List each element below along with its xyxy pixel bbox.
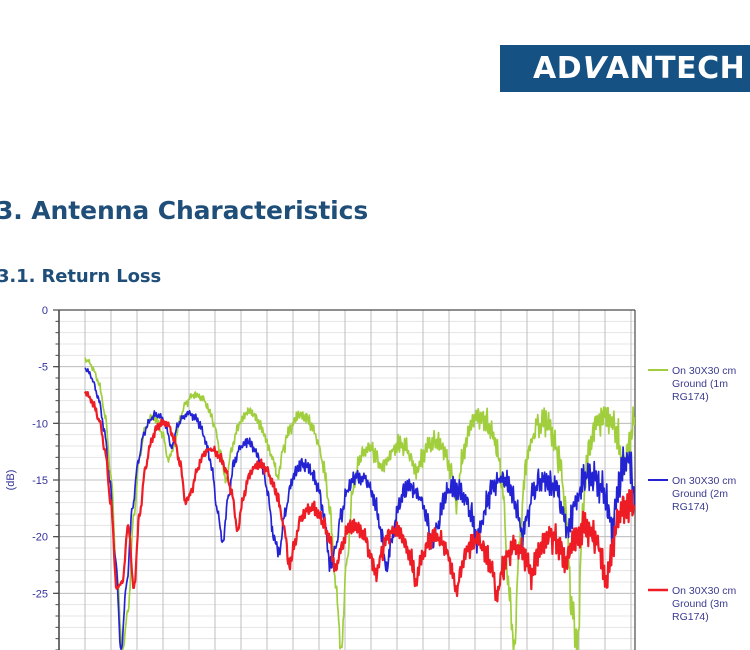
legend-label: RG174)	[672, 501, 709, 513]
wordmark-part-2: ANTECH	[606, 51, 745, 86]
y-axis-tick-label: -5	[38, 362, 48, 374]
chart-y-axis-tick-labels: 0-5-10-15-20-25	[32, 305, 48, 600]
y-axis-tick-label: -20	[32, 532, 48, 544]
advantech-logo-bar: ADVANTECH	[500, 45, 750, 92]
y-axis-tick-label: -10	[32, 418, 48, 430]
legend-label: On 30X30 cm	[672, 365, 736, 377]
legend-label: Ground (3m	[672, 598, 728, 610]
subsection-heading: 3.1. Return Loss	[0, 266, 161, 287]
legend-label: Ground (2m	[672, 488, 728, 500]
return-loss-chart-svg: 0-5-10-15-20-25 (dB) On 30X30 cmGround (…	[0, 300, 750, 650]
y-axis-title: (dB)	[5, 470, 17, 491]
advantech-wordmark: ADVANTECH	[533, 54, 745, 84]
wordmark-part-1: AD	[533, 51, 582, 86]
chart-y-axis-ticks	[53, 310, 59, 650]
legend-label: RG174)	[672, 611, 709, 623]
legend-label: On 30X30 cm	[672, 585, 736, 597]
section-heading: 3. Antenna Characteristics	[0, 196, 368, 225]
y-axis-tick-label: -25	[32, 588, 48, 600]
chart-legend: On 30X30 cmGround (1mRG174)On 30X30 cmGr…	[648, 365, 736, 623]
y-axis-tick-label: -15	[32, 475, 48, 487]
legend-label: On 30X30 cm	[672, 475, 736, 487]
legend-label: RG174)	[672, 391, 709, 403]
y-axis-tick-label: 0	[42, 305, 48, 317]
legend-label: Ground (1m	[672, 378, 728, 390]
chart-y-axis-title: (dB)	[5, 470, 17, 491]
return-loss-chart: 0-5-10-15-20-25 (dB) On 30X30 cmGround (…	[0, 300, 750, 650]
